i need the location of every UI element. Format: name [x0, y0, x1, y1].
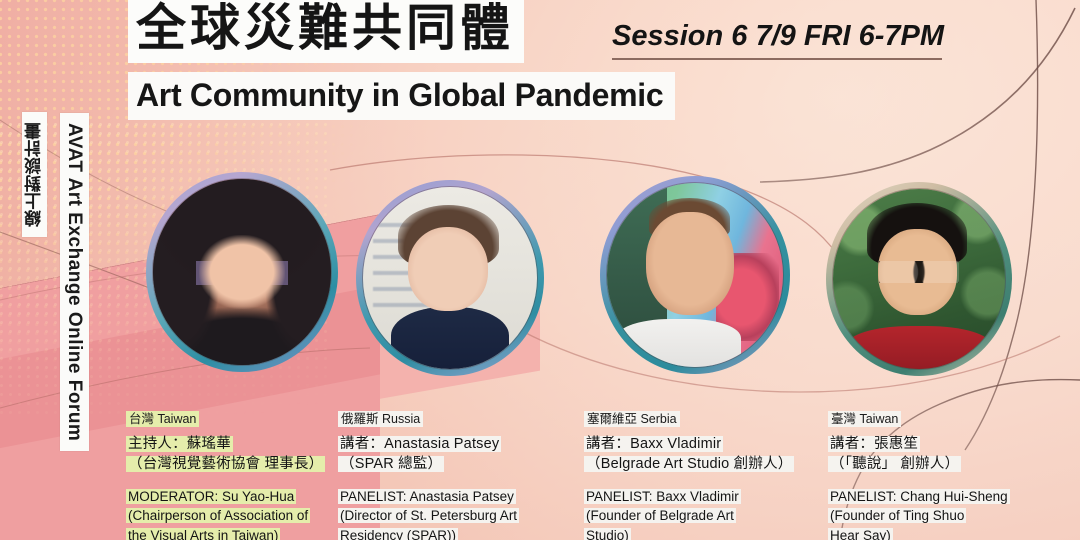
role-cjk-line: （台灣視覺藝術協會 理事長） — [126, 454, 341, 475]
title-cjk-bar: 全球災難共同體 — [128, 0, 524, 63]
role-en-line: the Visual Arts in Taiwan) — [126, 526, 341, 540]
poster-canvas: 線上對談計畫 AVAT Art Exchange Online Forum 全球… — [0, 0, 1080, 540]
role-en-line: PANELIST: Baxx Vladimir — [584, 487, 799, 507]
role-en-line: PANELIST: Chang Hui-Sheng — [828, 487, 1043, 507]
role-en-line: (Chairperson of Association of — [126, 506, 341, 526]
vertical-label-cjk: 線上對談計畫 — [22, 112, 47, 237]
avatar-su-yao-hua — [146, 172, 338, 372]
session-info: Session 6 7/9 FRI 6-7PM — [612, 20, 944, 53]
title-en-bar: Art Community in Global Pandemic — [128, 72, 675, 120]
role-cjk-line: （「聽說」 創辦人） — [828, 454, 1043, 475]
page-title-cjk: 全球災難共同體 — [136, 0, 514, 59]
vertical-label-en: AVAT Art Exchange Online Forum — [60, 113, 89, 451]
role-en-block: PANELIST: Baxx Vladimir (Founder of Belg… — [584, 487, 799, 540]
person-caption-3: 塞爾維亞 Serbia 講者：Baxx Vladimir （Belgrade A… — [584, 412, 799, 540]
session-underline — [612, 58, 942, 60]
role-en-block: PANELIST: Chang Hui-Sheng (Founder of Ti… — [828, 487, 1043, 540]
role-cjk-line: （SPAR 總監） — [338, 454, 553, 475]
role-en-line: Hear Say) — [828, 526, 1043, 540]
role-en-line: (Director of St. Petersburg Art — [338, 506, 553, 526]
country-label: 台灣 Taiwan — [126, 412, 341, 428]
person-caption-2: 俄羅斯 Russia 講者：Anastasia Patsey （SPAR 總監）… — [338, 412, 553, 540]
avatar-anastasia-patsey — [356, 180, 544, 376]
role-en-line: Studio) — [584, 526, 799, 540]
role-en-block: MODERATOR: Su Yao-Hua (Chairperson of As… — [126, 487, 341, 540]
avatar-baxx-vladimir — [600, 176, 790, 374]
role-en-line: (Founder of Ting Shuo — [828, 506, 1043, 526]
role-cjk-line: 主持人：蘇瑤華 — [126, 434, 341, 455]
avatar-photo — [607, 183, 783, 367]
page-title-en: Art Community in Global Pandemic — [136, 75, 663, 115]
role-en-line: (Founder of Belgrade Art — [584, 506, 799, 526]
country-label: 臺灣 Taiwan — [828, 412, 1043, 428]
avatar-photo — [153, 179, 331, 365]
country-label: 俄羅斯 Russia — [338, 412, 553, 428]
role-en-line: PANELIST: Anastasia Patsey — [338, 487, 553, 507]
role-cjk-line: 講者：張惠笙 — [828, 434, 1043, 455]
avatar-photo — [363, 187, 537, 369]
role-cjk-line: 講者：Baxx Vladimir — [584, 434, 799, 455]
country-label: 塞爾維亞 Serbia — [584, 412, 799, 428]
avatar-photo — [833, 189, 1005, 369]
role-en-line: MODERATOR: Su Yao-Hua — [126, 487, 341, 507]
role-en-block: PANELIST: Anastasia Patsey (Director of … — [338, 487, 553, 540]
role-cjk-line: 講者：Anastasia Patsey — [338, 434, 553, 455]
person-caption-4: 臺灣 Taiwan 講者：張惠笙 （「聽說」 創辦人） PANELIST: Ch… — [828, 412, 1043, 540]
role-cjk-line: （Belgrade Art Studio 創辦人） — [584, 454, 799, 475]
avatar-chang-hui-sheng — [826, 182, 1012, 376]
person-caption-1: 台灣 Taiwan 主持人：蘇瑤華 （台灣視覺藝術協會 理事長） MODERAT… — [126, 412, 341, 540]
role-en-line: Residency (SPAR)) — [338, 526, 553, 540]
